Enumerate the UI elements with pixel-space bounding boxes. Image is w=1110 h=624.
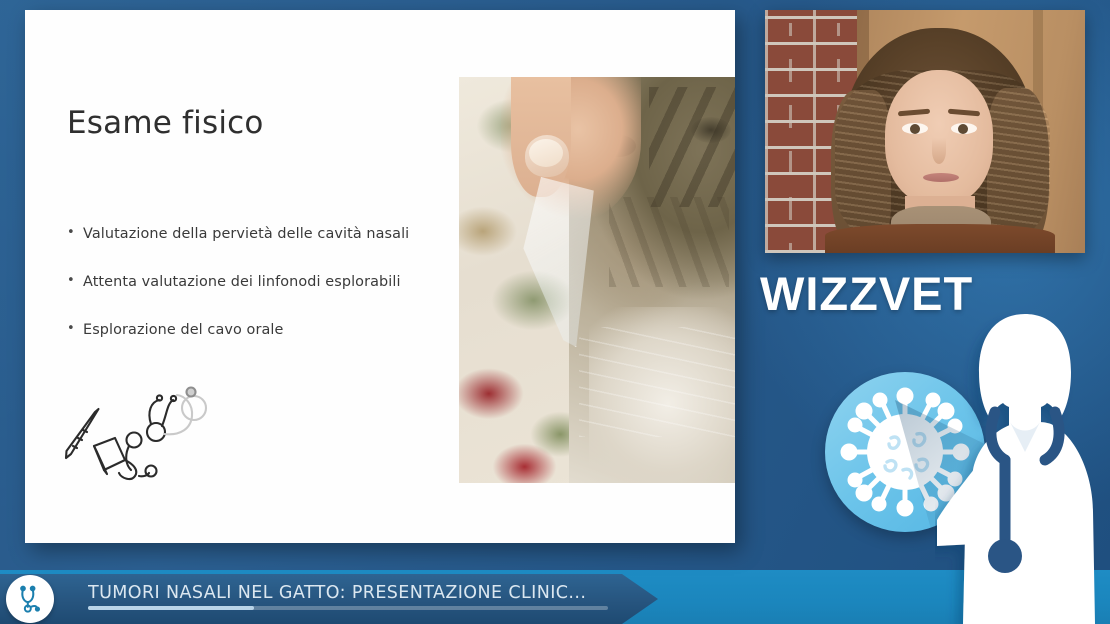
stethoscope-speech-bubble-icon (9, 578, 51, 620)
slide-title: Esame fisico (67, 105, 264, 141)
slide-photo-cat (459, 77, 735, 483)
presentation-slide: Esame fisico • Valutazione della perviet… (25, 10, 735, 543)
bullet-text: Esplorazione del cavo orale (83, 321, 283, 339)
vet-silhouette-icon (935, 300, 1110, 624)
list-item: • Valutazione della pervietà delle cavit… (67, 225, 427, 243)
bullet-marker: • (67, 273, 83, 289)
list-item: • Attenta valutazione dei linfonodi espl… (67, 273, 427, 291)
video-title: TUMORI NASALI NEL GATTO: PRESENTAZIONE C… (88, 583, 608, 603)
medical-instruments-icon (63, 378, 223, 498)
video-player: Esame fisico • Valutazione della perviet… (0, 0, 1110, 624)
progress-bar[interactable] (88, 606, 608, 610)
bullet-text: Valutazione della pervietà delle cavità … (83, 225, 409, 243)
slide-bullet-list: • Valutazione della pervietà delle cavit… (67, 225, 427, 369)
wizzvet-badge-icon[interactable] (6, 575, 54, 623)
bullet-marker: • (67, 225, 83, 241)
list-item: • Esplorazione del cavo orale (67, 321, 427, 339)
bullet-marker: • (67, 321, 83, 337)
bullet-text: Attenta valutazione dei linfonodi esplor… (83, 273, 401, 291)
presenter-video[interactable] (765, 10, 1085, 253)
progress-bar-fill (88, 606, 254, 610)
